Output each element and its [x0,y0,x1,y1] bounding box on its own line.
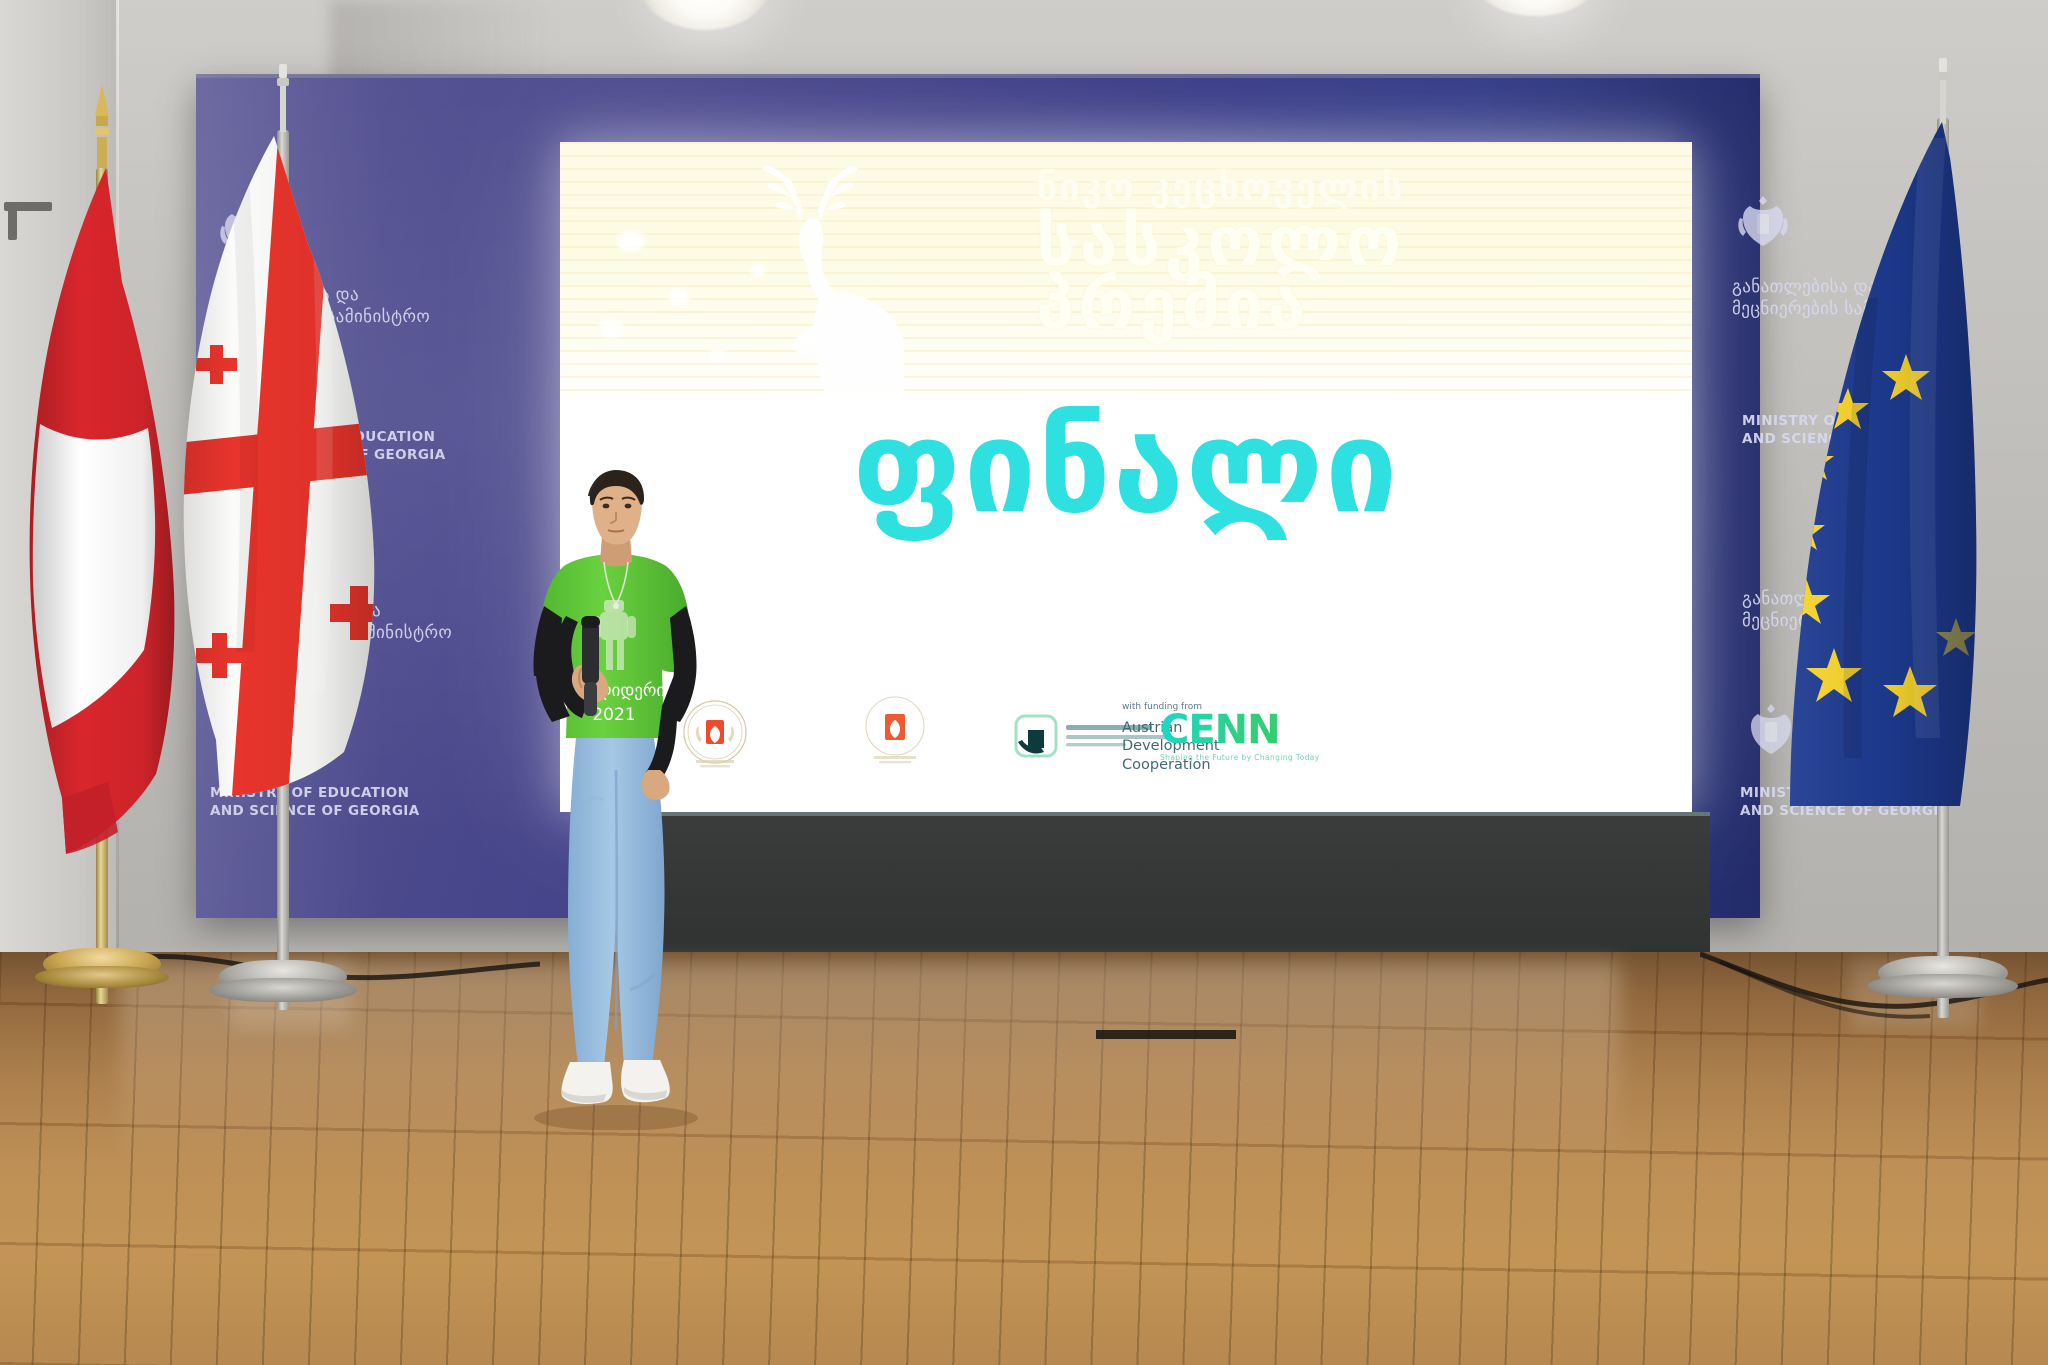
eu-flag-stand [1828,56,2048,1046]
slide-headline: ფინალი [560,404,1692,532]
award-title-line1: ნიკო კეცხოველის [1036,168,1646,206]
flag-finial-silver-icon [1933,56,1953,124]
led-presentation-screen: ნიკო კეცხოველის სასკოლო პრემია ფინალი wi… [560,142,1692,812]
tshirt-text-line2: 2021 [592,705,635,725]
slide-award-title: ნიკო კეცხოველის სასკოლო პრემია [1036,168,1646,340]
cenn-tagline: Shaping the Future by Changing Today [1160,753,1328,762]
slide-logo-row: with funding from Austrian Development C… [560,686,1692,778]
georgia-coat-of-arms-seal-2 [858,692,932,770]
cenn-logo: CENN Shaping the Future by Changing Toda… [1160,710,1328,762]
cenn-wordmark: CENN [1160,710,1328,750]
stage-scene: განათლებისა და მეცნიერების სამინისტრო MI… [0,0,2048,1365]
floor-cable-strip [1096,1030,1236,1039]
eu-flag-cloth [1710,118,2010,818]
microphone-icon [582,622,599,684]
speaker-person: ეკოლიდერი 2021 [520,470,710,1130]
flag-finial-gold-icon [91,82,113,168]
deer-silhouette-icon [728,152,906,402]
georgia-flag-stand [168,62,398,1052]
flag-finial-silver-icon [273,62,293,132]
georgia-flag-cloth [158,132,408,832]
